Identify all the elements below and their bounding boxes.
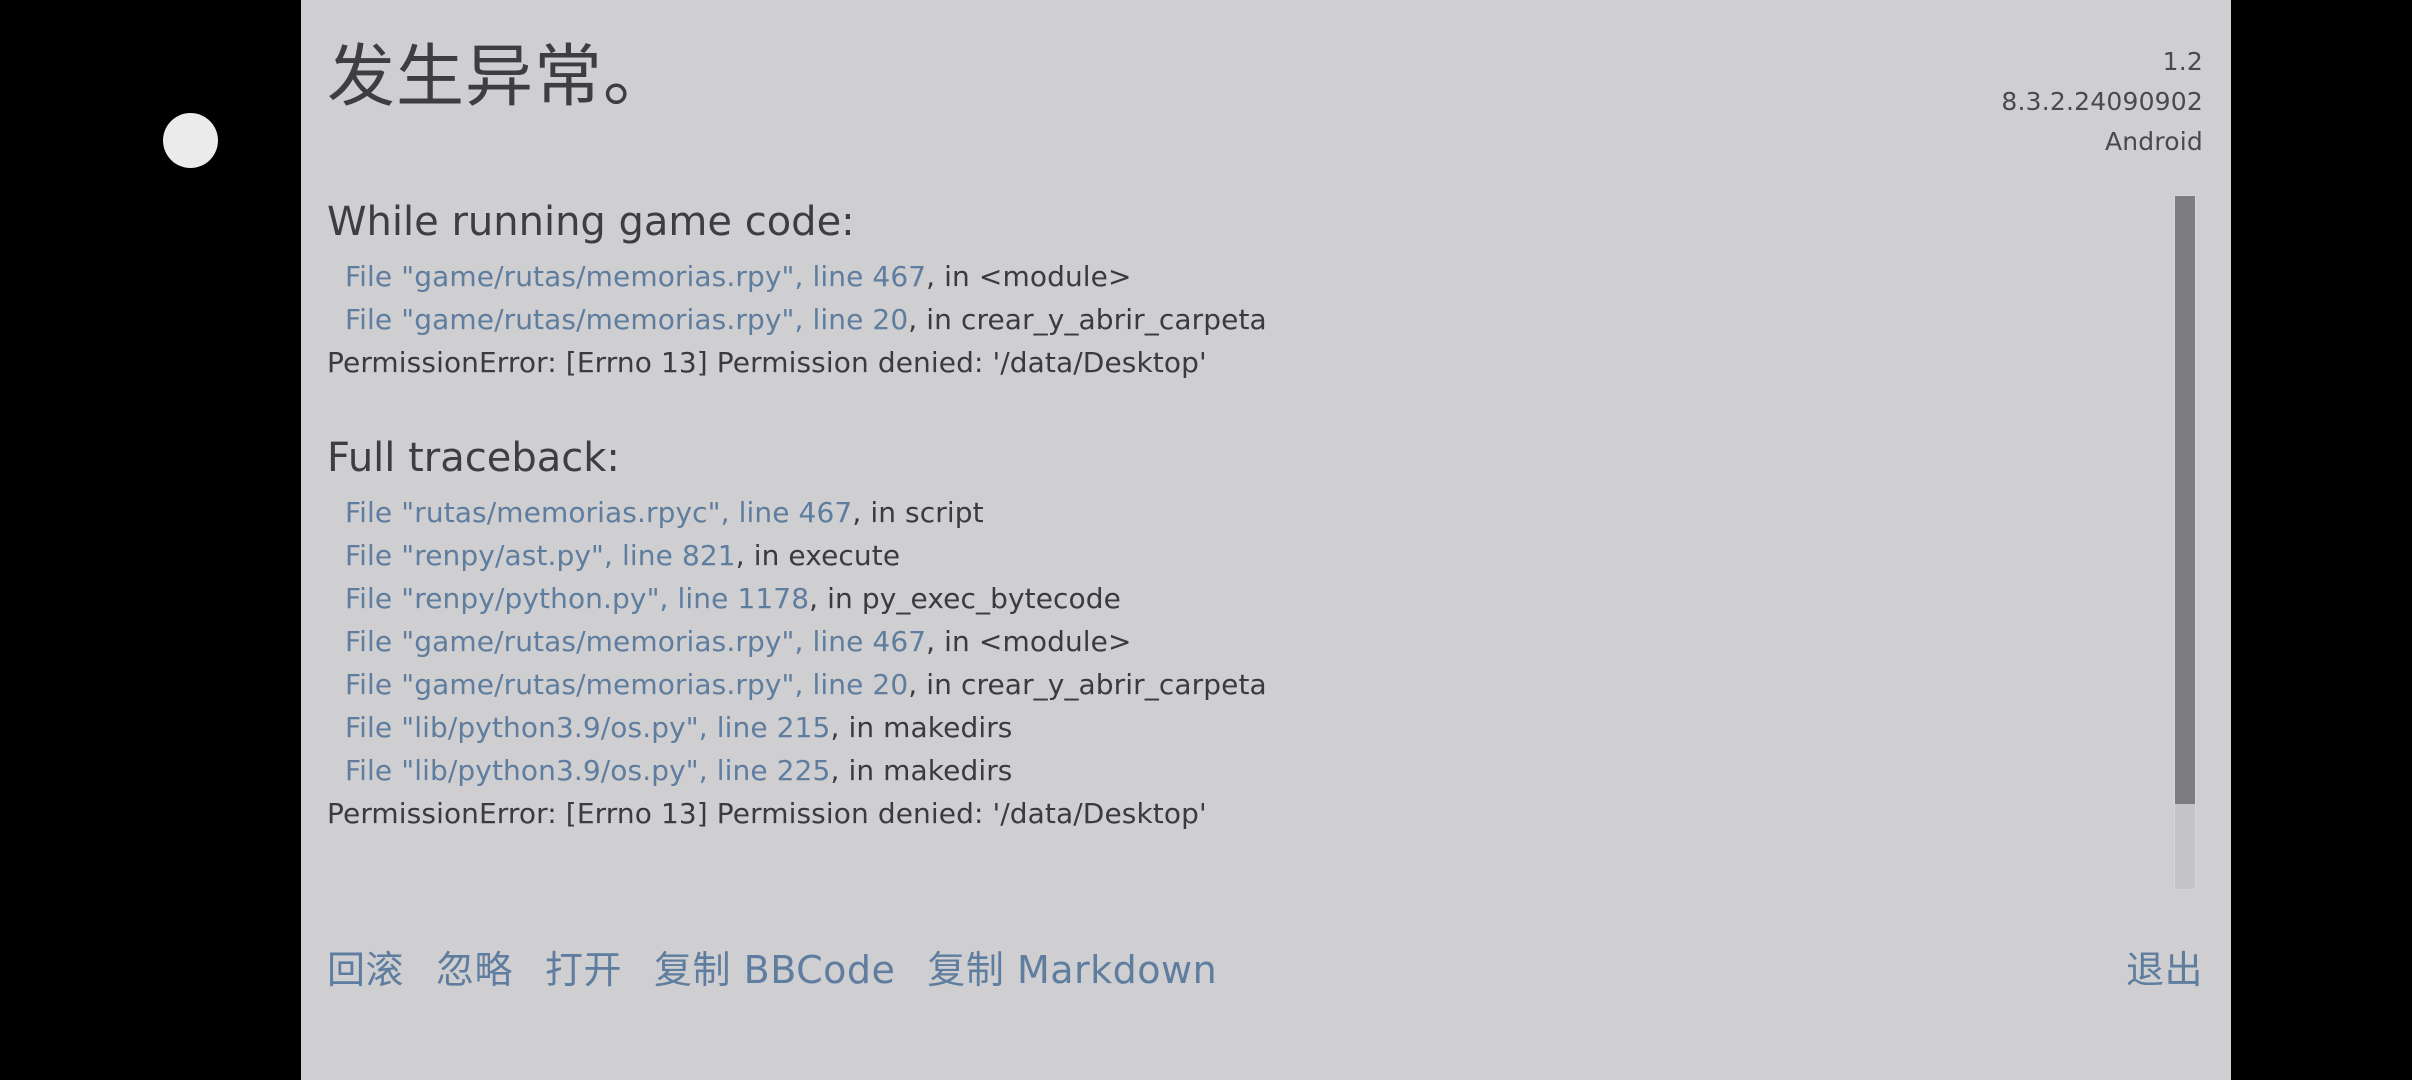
action-buttons-right: 退出 (2126, 942, 2203, 998)
traceback-frame-line: File "lib/python3.9/os.py", line 225, in… (327, 749, 2172, 792)
traceback-line-rest: , in <module> (926, 260, 1131, 293)
copy-markdown-button[interactable]: 复制 Markdown (927, 942, 1217, 998)
scrollbar-thumb[interactable] (2175, 196, 2195, 804)
version-info: 1.2 8.3.2.24090902 Android (2001, 42, 2203, 162)
action-button-row: 回滚 忽略 打开 复制 BBCode 复制 Markdown 退出 (327, 942, 2203, 998)
traceback-line-rest: , in crear_y_abrir_carpeta (908, 668, 1267, 701)
copy-bbcode-button[interactable]: 复制 BBCode (654, 942, 895, 998)
section-gap (327, 384, 2172, 428)
platform-label: Android (2001, 122, 2203, 162)
camera-punch-hole-icon (163, 113, 218, 168)
section-heading: While running game code: (327, 192, 2172, 252)
traceback-line-rest: , in makedirs (830, 711, 1012, 744)
traceback-frame-line: File "rutas/memorias.rpyc", line 467, in… (327, 491, 2172, 534)
open-button[interactable]: 打开 (545, 942, 622, 998)
ignore-button[interactable]: 忽略 (436, 942, 513, 998)
traceback-frame-line: File "renpy/ast.py", line 821, in execut… (327, 534, 2172, 577)
section-heading: Full traceback: (327, 428, 2172, 488)
traceback-frame-line: File "lib/python3.9/os.py", line 215, in… (327, 706, 2172, 749)
traceback-file-reference: File "game/rutas/memorias.rpy", line 20 (345, 303, 908, 336)
exception-panel: 发生异常。 1.2 8.3.2.24090902 Android While r… (301, 0, 2231, 1080)
traceback-file-reference: File "lib/python3.9/os.py", line 215 (345, 711, 830, 744)
traceback-line-rest: PermissionError: [Errno 13] Permission d… (327, 346, 1207, 379)
vertical-scrollbar[interactable] (2174, 195, 2196, 890)
traceback-content: While running game code:File "game/rutas… (327, 192, 2172, 835)
traceback-line-rest: , in execute (736, 539, 900, 572)
quit-button[interactable]: 退出 (2126, 942, 2203, 998)
traceback-file-reference: File "renpy/ast.py", line 821 (345, 539, 736, 572)
traceback-file-reference: File "game/rutas/memorias.rpy", line 467 (345, 625, 926, 658)
traceback-scroll-region[interactable]: While running game code:File "game/rutas… (327, 192, 2172, 892)
traceback-frame-line: File "game/rutas/memorias.rpy", line 20,… (327, 298, 2172, 341)
traceback-frame-line: File "game/rutas/memorias.rpy", line 20,… (327, 663, 2172, 706)
traceback-error-line: PermissionError: [Errno 13] Permission d… (327, 341, 2172, 384)
traceback-line-rest: , in script (852, 496, 983, 529)
action-buttons-left: 回滚 忽略 打开 复制 BBCode 复制 Markdown (327, 942, 1217, 998)
traceback-frame-line: File "game/rutas/memorias.rpy", line 467… (327, 255, 2172, 298)
traceback-line-rest: , in py_exec_bytecode (809, 582, 1121, 615)
page-title: 发生异常。 (327, 38, 672, 118)
traceback-line-rest: , in makedirs (830, 754, 1012, 787)
traceback-line-rest: , in <module> (926, 625, 1131, 658)
renpy-version: 1.2 (2001, 42, 2203, 82)
android-game-screen: 发生异常。 1.2 8.3.2.24090902 Android While r… (0, 0, 2412, 1080)
traceback-file-reference: File "lib/python3.9/os.py", line 225 (345, 754, 830, 787)
build-version: 8.3.2.24090902 (2001, 82, 2203, 122)
traceback-file-reference: File "rutas/memorias.rpyc", line 467 (345, 496, 852, 529)
traceback-line-rest: PermissionError: [Errno 13] Permission d… (327, 797, 1207, 830)
traceback-file-reference: File "renpy/python.py", line 1178 (345, 582, 809, 615)
traceback-line-rest: , in crear_y_abrir_carpeta (908, 303, 1267, 336)
traceback-file-reference: File "game/rutas/memorias.rpy", line 467 (345, 260, 926, 293)
traceback-file-reference: File "game/rutas/memorias.rpy", line 20 (345, 668, 908, 701)
traceback-frame-line: File "game/rutas/memorias.rpy", line 467… (327, 620, 2172, 663)
traceback-frame-line: File "renpy/python.py", line 1178, in py… (327, 577, 2172, 620)
rollback-button[interactable]: 回滚 (327, 942, 404, 998)
traceback-error-line: PermissionError: [Errno 13] Permission d… (327, 792, 2172, 835)
